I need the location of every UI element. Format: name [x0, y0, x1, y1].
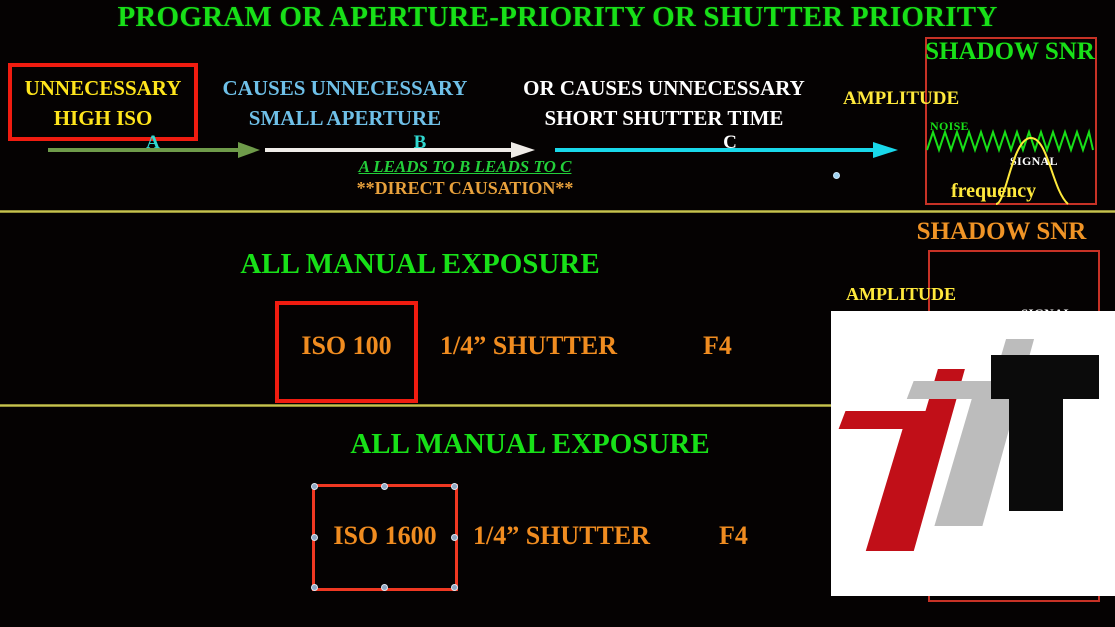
- high-iso-label: UNNECESSARY HIGH ISO: [8, 73, 198, 133]
- triple-t-logo-icon: [831, 311, 1115, 596]
- resize-handle-s[interactable]: [381, 584, 388, 591]
- small-aperture-line2: SMALL APERTURE: [200, 103, 490, 133]
- short-shutter-line1: OR CAUSES UNNECESSARY: [492, 73, 836, 103]
- small-aperture-label: CAUSES UNNECESSARY SMALL APERTURE: [200, 73, 490, 133]
- high-iso-label-line2: HIGH ISO: [8, 103, 198, 133]
- iso-100-value: ISO 100: [275, 331, 418, 361]
- direct-causation-caption: **DIRECT CAUSATION**: [310, 178, 620, 199]
- arrow-b-head-icon: [511, 142, 535, 158]
- arrow-b-line: [265, 148, 517, 152]
- resize-handle-ne[interactable]: [451, 483, 458, 490]
- resize-handle-se[interactable]: [451, 584, 458, 591]
- iso-1600-value: ISO 1600: [312, 521, 458, 551]
- arrow-a: A: [48, 139, 260, 161]
- bottom-aperture-value: F4: [719, 521, 748, 551]
- amplitude-label-top: AMPLITUDE: [843, 88, 959, 110]
- bottom-shutter-value: 1/4” SHUTTER: [473, 521, 650, 551]
- arrow-a-label: A: [133, 132, 173, 154]
- short-shutter-line2: SHORT SHUTTER TIME: [492, 103, 836, 133]
- amplitude-label-mid: AMPLITUDE: [846, 284, 956, 305]
- section-divider-1: [0, 210, 1115, 213]
- arrow-b-label: B: [400, 132, 440, 154]
- resize-handle-sw[interactable]: [311, 584, 318, 591]
- page-title: PROGRAM OR APERTURE-PRIORITY OR SHUTTER …: [0, 0, 1115, 34]
- resize-handle-n[interactable]: [381, 483, 388, 490]
- resize-handle-nw[interactable]: [311, 483, 318, 490]
- stray-selection-dot[interactable]: [833, 172, 840, 179]
- signal-bell-curve-icon: [990, 130, 1076, 206]
- middle-shutter-value: 1/4” SHUTTER: [440, 331, 617, 361]
- slide-canvas: PROGRAM OR APERTURE-PRIORITY OR SHUTTER …: [0, 0, 1115, 627]
- arrow-c-label: C: [710, 132, 750, 154]
- shadow-snr-mid-title: SHADOW SNR: [888, 218, 1115, 246]
- arrow-c-head-icon: [873, 142, 898, 158]
- middle-aperture-value: F4: [703, 331, 732, 361]
- middle-exposure-heading: ALL MANUAL EXPOSURE: [0, 248, 840, 281]
- small-aperture-line1: CAUSES UNNECESSARY: [200, 73, 490, 103]
- shadow-snr-top-title: SHADOW SNR: [905, 38, 1115, 66]
- short-shutter-label: OR CAUSES UNNECESSARY SHORT SHUTTER TIME: [492, 73, 836, 133]
- leads-to-caption: A LEADS TO B LEADS TO C: [310, 157, 620, 177]
- watermark-logo: [831, 311, 1115, 596]
- arrow-a-head-icon: [238, 142, 260, 158]
- high-iso-label-line1: UNNECESSARY: [8, 73, 198, 103]
